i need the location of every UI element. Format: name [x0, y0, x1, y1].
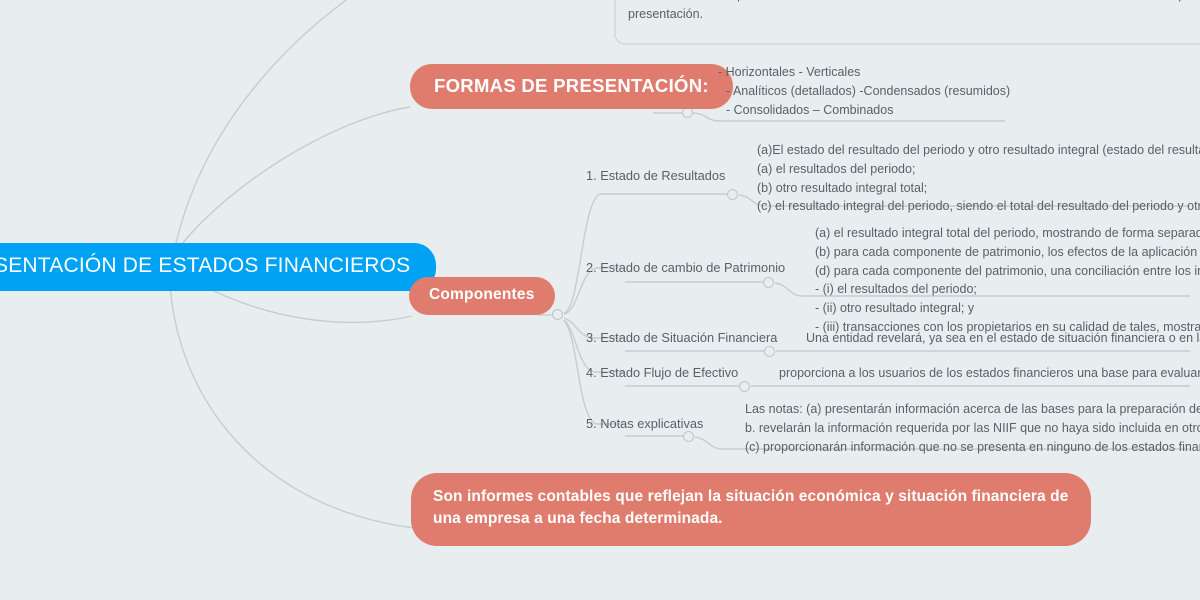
- item-3-detail-line-1: Una entidad revelará, ya sea en el estad…: [806, 329, 1200, 348]
- node-item-1-label[interactable]: 1. Estado de Resultados: [586, 167, 725, 185]
- mindmap-canvas: - Uniformidad en la presentación: - tras…: [0, 0, 1200, 600]
- item-2-label-text: 2. Estado de cambio de Patrimonio: [586, 260, 785, 275]
- formas-label: FORMAS DE PRESENTACIÓN:: [434, 75, 709, 96]
- node-item-3-detail[interactable]: Una entidad revelará, ya sea en el estad…: [806, 329, 1200, 348]
- item-5-detail-line-2: b. revelarán la información requerida po…: [745, 419, 1200, 438]
- node-item-3-label[interactable]: 3. Estado de Situación Financiera: [586, 329, 777, 347]
- hub-item4: [739, 381, 750, 392]
- node-summary[interactable]: Son informes contables que reflejan la s…: [411, 473, 1091, 546]
- node-item-5-label[interactable]: 5. Notas explicativas: [586, 415, 703, 433]
- formas-detail-line-1: - Horizontales - Verticales: [718, 63, 1010, 82]
- item-4-label-text: 4. Estado Flujo de Efectivo: [586, 365, 738, 380]
- link-hub-item1: [564, 194, 625, 313]
- item-2-detail-line-4: - (i) el resultados del periodo;: [815, 280, 1200, 299]
- item-5-detail-line-3: (c) proporcionarán información que no se…: [745, 438, 1200, 457]
- hub-item1: [727, 189, 738, 200]
- item-1-detail-line-1: (a)El estado del resultado del periodo y…: [757, 141, 1200, 160]
- root-label: SENTACIÓN DE ESTADOS FINANCIEROS: [0, 254, 410, 277]
- link-root-to-formas: [182, 107, 410, 244]
- formas-detail-line-3: - Consolidados – Combinados: [718, 101, 1010, 120]
- item-2-detail-line-2: (b) para cada componente de patrimonio, …: [815, 243, 1200, 262]
- item-2-detail-line-1: (a) el resultado integral total del peri…: [815, 224, 1200, 243]
- item-1-detail-line-2: (a) el resultados del periodo;: [757, 160, 1200, 179]
- item-1-detail-line-3: (b) otro resultado integral total;: [757, 179, 1200, 198]
- link-root-to-summary: [170, 284, 414, 528]
- item-2-detail-line-3: (d) para cada componente del patrimonio,…: [815, 262, 1200, 281]
- item-1-detail-line-4: (c) el resultado integral del periodo, s…: [757, 197, 1200, 216]
- link-root-to-uniformidad: [176, 0, 360, 243]
- componentes-label: Componentes: [429, 286, 535, 303]
- node-item-1-detail[interactable]: (a)El estado del resultado del periodo y…: [757, 141, 1200, 216]
- hub-componentes: [552, 309, 563, 320]
- node-componentes[interactable]: Componentes: [409, 277, 555, 315]
- node-uniformidad[interactable]: - Uniformidad en la presentación: - tras…: [628, 0, 1200, 24]
- uniformidad-line-2: presentación.: [628, 5, 1200, 24]
- item-5-label-text: 5. Notas explicativas: [586, 416, 703, 431]
- item-5-detail-line-1: Las notas: (a) presentarán información a…: [745, 400, 1200, 419]
- item-4-detail-line-1: proporciona a los usuarios de los estado…: [779, 364, 1200, 383]
- item-2-detail-line-5: - (ii) otro resultado integral; y: [815, 299, 1200, 318]
- uniformidad-line-1: - Uniformidad en la presentación: - tras…: [628, 0, 1200, 5]
- node-item-4-label[interactable]: 4. Estado Flujo de Efectivo: [586, 364, 738, 382]
- node-root-title[interactable]: SENTACIÓN DE ESTADOS FINANCIEROS: [0, 243, 436, 291]
- item-3-label-text: 3. Estado de Situación Financiera: [586, 330, 777, 345]
- hub-item3: [764, 346, 775, 357]
- node-item-5-detail[interactable]: Las notas: (a) presentarán información a…: [745, 400, 1200, 456]
- summary-label: Son informes contables que reflejan la s…: [433, 488, 1068, 527]
- hub-item2: [763, 277, 774, 288]
- node-item-4-detail[interactable]: proporciona a los usuarios de los estado…: [779, 364, 1200, 383]
- node-item-2-label[interactable]: 2. Estado de cambio de Patrimonio: [586, 259, 785, 277]
- item-1-label-text: 1. Estado de Resultados: [586, 168, 725, 183]
- node-item-2-detail[interactable]: (a) el resultado integral total del peri…: [815, 224, 1200, 337]
- node-formas-de-presentacion[interactable]: FORMAS DE PRESENTACIÓN:: [410, 64, 733, 109]
- formas-detail-line-2: - Analíticos (detallados) -Condensados (…: [718, 82, 1010, 101]
- node-formas-detail[interactable]: - Horizontales - Verticales - Analíticos…: [718, 63, 1010, 119]
